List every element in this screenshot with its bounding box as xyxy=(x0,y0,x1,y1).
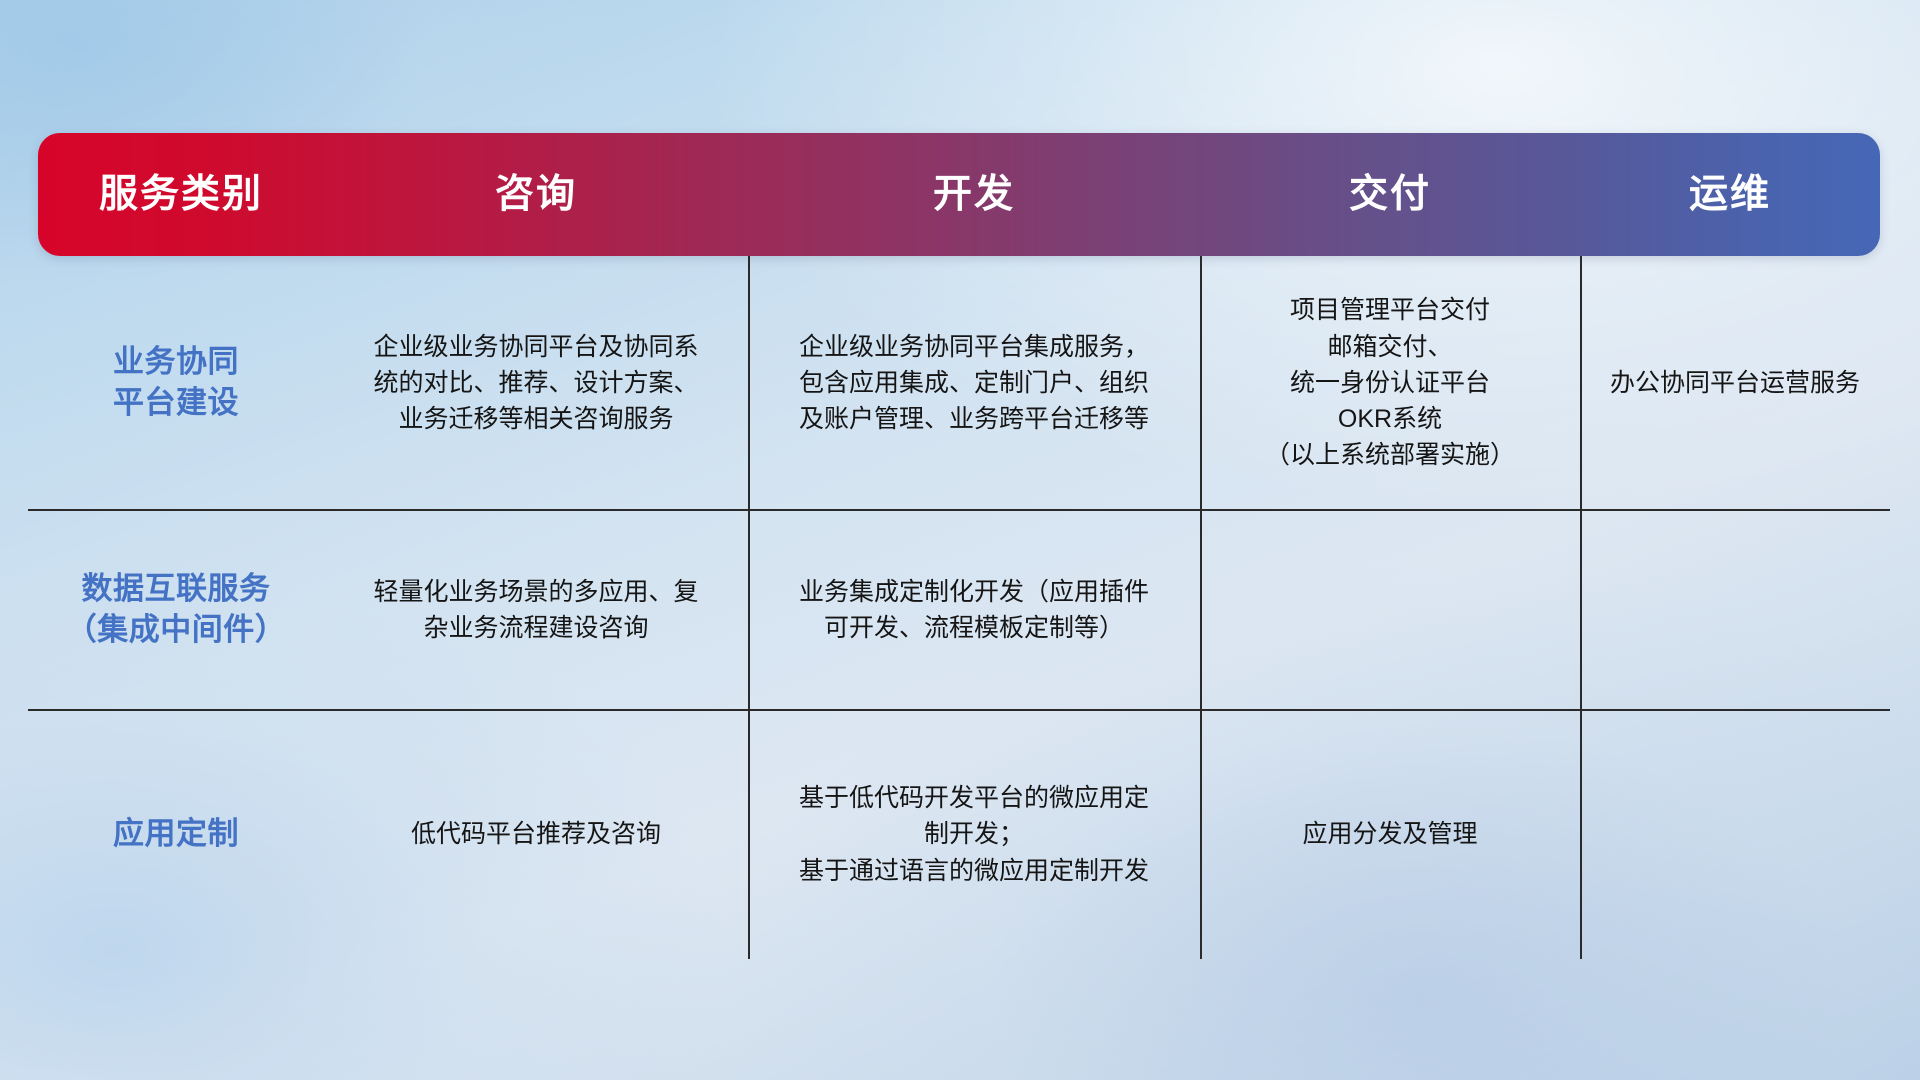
cell-operations xyxy=(1580,510,1890,710)
cell-text: 低代码平台推荐及咨询 xyxy=(411,816,661,852)
cell-consulting: 低代码平台推荐及咨询 xyxy=(324,710,748,959)
column-header-delivery: 交付 xyxy=(1200,175,1580,214)
cell-operations xyxy=(1580,710,1890,959)
row-label-text: 数据互联服务 （集成中间件） xyxy=(66,569,287,651)
cell-text: 项目管理平台交付 邮箱交付、 统一身份认证平台 OKR系统 （以上系统部署实施） xyxy=(1265,292,1515,473)
cell-development: 业务集成定制化开发（应用插件 可开发、流程模板定制等） xyxy=(748,510,1200,710)
cell-delivery xyxy=(1200,510,1580,710)
table-row: 应用定制 低代码平台推荐及咨询 基于低代码开发平台的微应用定 制开发； 基于通过… xyxy=(28,710,1890,959)
row-label-cell: 应用定制 xyxy=(28,710,324,959)
cell-text: 基于低代码开发平台的微应用定 制开发； 基于通过语言的微应用定制开发 xyxy=(799,780,1149,889)
cell-text: 轻量化业务场景的多应用、复 杂业务流程建设咨询 xyxy=(373,574,698,647)
cell-text: 应用分发及管理 xyxy=(1302,816,1477,852)
cell-text: 办公协同平台运营服务 xyxy=(1610,365,1860,401)
row-label-text: 业务协同 平台建设 xyxy=(113,342,239,424)
cell-consulting: 轻量化业务场景的多应用、复 杂业务流程建设咨询 xyxy=(324,510,748,710)
table-row: 业务协同 平台建设 企业级业务协同平台及协同系 统的对比、推荐、设计方案、 业务… xyxy=(28,256,1890,510)
column-header-operations: 运维 xyxy=(1580,175,1880,214)
table-header-band: 服务类别 咨询 开发 交付 运维 xyxy=(38,133,1880,256)
column-separator xyxy=(1580,256,1582,959)
column-header-consulting: 咨询 xyxy=(324,175,748,214)
cell-text: 企业级业务协同平台及协同系 统的对比、推荐、设计方案、 业务迁移等相关咨询服务 xyxy=(373,329,698,438)
cell-operations: 办公协同平台运营服务 xyxy=(1580,256,1890,510)
column-header-category: 服务类别 xyxy=(38,175,324,214)
cell-text: 企业级业务协同平台集成服务， 包含应用集成、定制门户、组织 及账户管理、业务跨平… xyxy=(799,329,1149,438)
row-label-text: 应用定制 xyxy=(113,814,239,855)
header-row: 服务类别 咨询 开发 交付 运维 xyxy=(38,133,1880,256)
row-label-cell: 数据互联服务 （集成中间件） xyxy=(28,510,324,710)
column-separator xyxy=(748,256,750,959)
cell-consulting: 企业级业务协同平台及协同系 统的对比、推荐、设计方案、 业务迁移等相关咨询服务 xyxy=(324,256,748,510)
cell-delivery: 项目管理平台交付 邮箱交付、 统一身份认证平台 OKR系统 （以上系统部署实施） xyxy=(1200,256,1580,510)
table-body: 业务协同 平台建设 企业级业务协同平台及协同系 统的对比、推荐、设计方案、 业务… xyxy=(28,256,1890,959)
service-matrix-table: 服务类别 咨询 开发 交付 运维 业务协同 平台建设 企业级业务协同平台及协同系… xyxy=(28,133,1890,959)
column-header-development: 开发 xyxy=(748,175,1200,214)
cell-development: 基于低代码开发平台的微应用定 制开发； 基于通过语言的微应用定制开发 xyxy=(748,710,1200,959)
cell-text: 业务集成定制化开发（应用插件 可开发、流程模板定制等） xyxy=(799,574,1149,647)
column-separator xyxy=(1200,256,1202,959)
row-separator xyxy=(28,709,1890,711)
row-label-cell: 业务协同 平台建设 xyxy=(28,256,324,510)
row-separator xyxy=(28,509,1890,511)
cell-development: 企业级业务协同平台集成服务， 包含应用集成、定制门户、组织 及账户管理、业务跨平… xyxy=(748,256,1200,510)
cell-delivery: 应用分发及管理 xyxy=(1200,710,1580,959)
table-row: 数据互联服务 （集成中间件） 轻量化业务场景的多应用、复 杂业务流程建设咨询 业… xyxy=(28,510,1890,710)
